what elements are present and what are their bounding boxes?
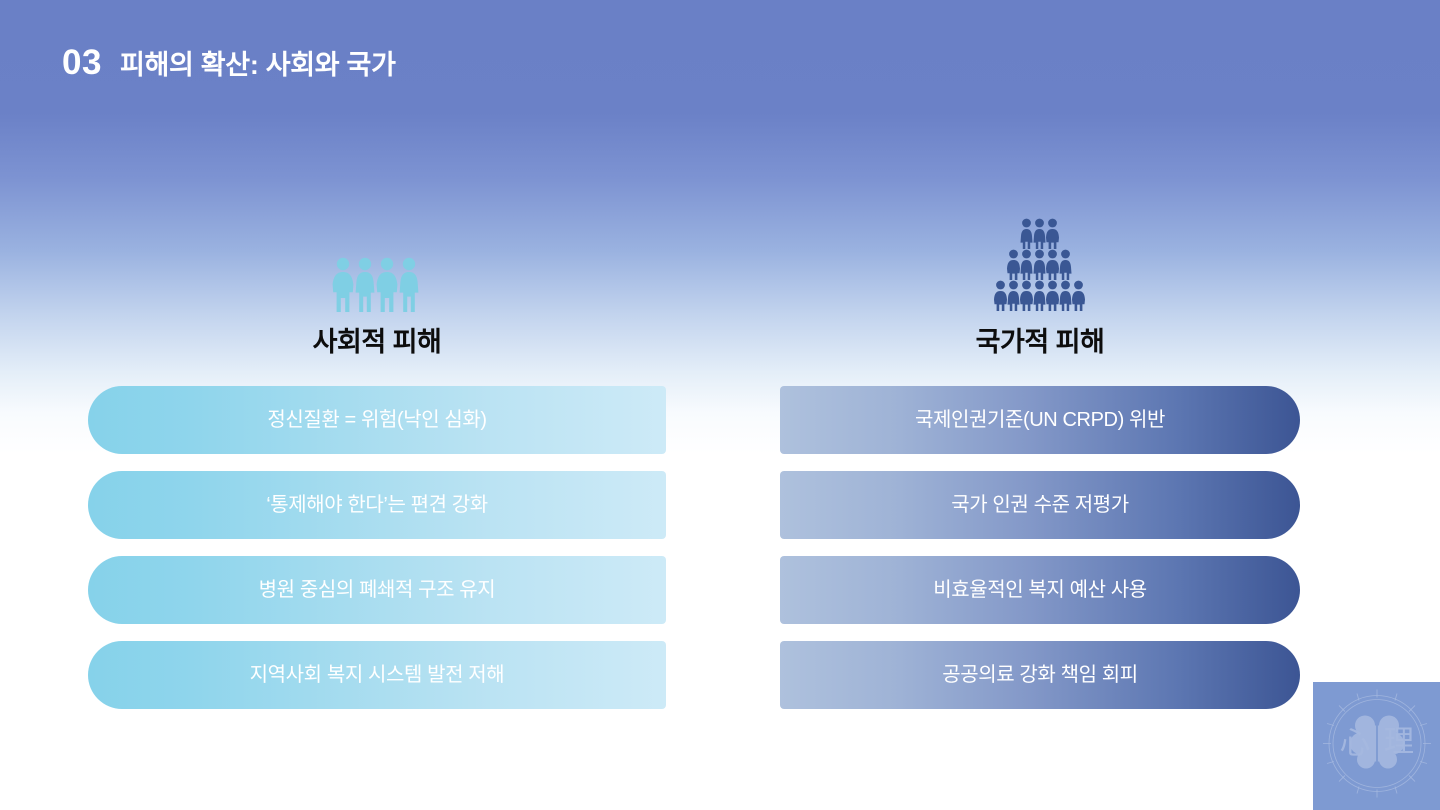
- pill-label: 병원 중심의 폐쇄적 구조 유지: [259, 578, 496, 602]
- pill-social-3[interactable]: 병원 중심의 폐쇄적 구조 유지: [88, 556, 666, 624]
- watermark-graphic: 心 理: [1321, 688, 1433, 805]
- watermark-text-right: 理: [1384, 725, 1414, 760]
- column-national: 국가적 피해 국제인권기준(UN CRPD) 위반 국가 인권 수준 저평가 비…: [780, 200, 1300, 726]
- pill-label: 지역사회 복지 시스템 발전 저해: [250, 663, 505, 687]
- pill-social-2[interactable]: ‘통제해야 한다’는 편견 강화: [88, 471, 666, 539]
- column-social: 사회적 피해 정신질환 = 위험(낙인 심화) ‘통제해야 한다’는 편견 강화…: [88, 200, 666, 726]
- pill-label: 비효율적인 복지 예산 사용: [933, 578, 1146, 602]
- people-pyramid-icon-svg: [991, 218, 1089, 312]
- column-heading-social: 사회적 피해: [88, 328, 666, 358]
- column-heading-national: 국가적 피해: [780, 328, 1300, 358]
- pill-national-2[interactable]: 국가 인권 수준 저평가: [780, 471, 1300, 539]
- pill-label: 국제인권기준(UN CRPD) 위반: [915, 408, 1165, 432]
- section-number: 03: [62, 45, 102, 80]
- group-of-four-people-icon: [88, 200, 666, 312]
- watermark-text-left: 心: [1340, 727, 1370, 762]
- page-title: 피해의 확산: 사회와 국가: [120, 52, 396, 79]
- pill-social-1[interactable]: 정신질환 = 위험(낙인 심화): [88, 386, 666, 454]
- pill-national-1[interactable]: 국제인권기준(UN CRPD) 위반: [780, 386, 1300, 454]
- pill-list-national: 국제인권기준(UN CRPD) 위반 국가 인권 수준 저평가 비효율적인 복지…: [780, 386, 1300, 709]
- slide-root: 03 피해의 확산: 사회와 국가: [0, 0, 1440, 810]
- watermark-svg: 心 理: [1321, 688, 1433, 800]
- slide-title-row: 03 피해의 확산: 사회와 국가: [62, 45, 396, 80]
- people-pyramid-icon: [780, 200, 1300, 312]
- pill-label: 정신질환 = 위험(낙인 심화): [267, 408, 486, 432]
- group-of-four-people-icon-svg: [331, 256, 423, 312]
- pill-label: 국가 인권 수준 저평가: [951, 493, 1128, 517]
- pill-label: 공공의료 강화 책임 회피: [942, 663, 1137, 687]
- pill-list-social: 정신질환 = 위험(낙인 심화) ‘통제해야 한다’는 편견 강화 병원 중심의…: [88, 386, 666, 709]
- pill-social-4[interactable]: 지역사회 복지 시스템 발전 저해: [88, 641, 666, 709]
- pill-national-4[interactable]: 공공의료 강화 책임 회피: [780, 641, 1300, 709]
- pill-label: ‘통제해야 한다’는 편견 강화: [266, 493, 488, 517]
- brain-psychology-logo-watermark: 心 理: [1313, 682, 1440, 810]
- pill-national-3[interactable]: 비효율적인 복지 예산 사용: [780, 556, 1300, 624]
